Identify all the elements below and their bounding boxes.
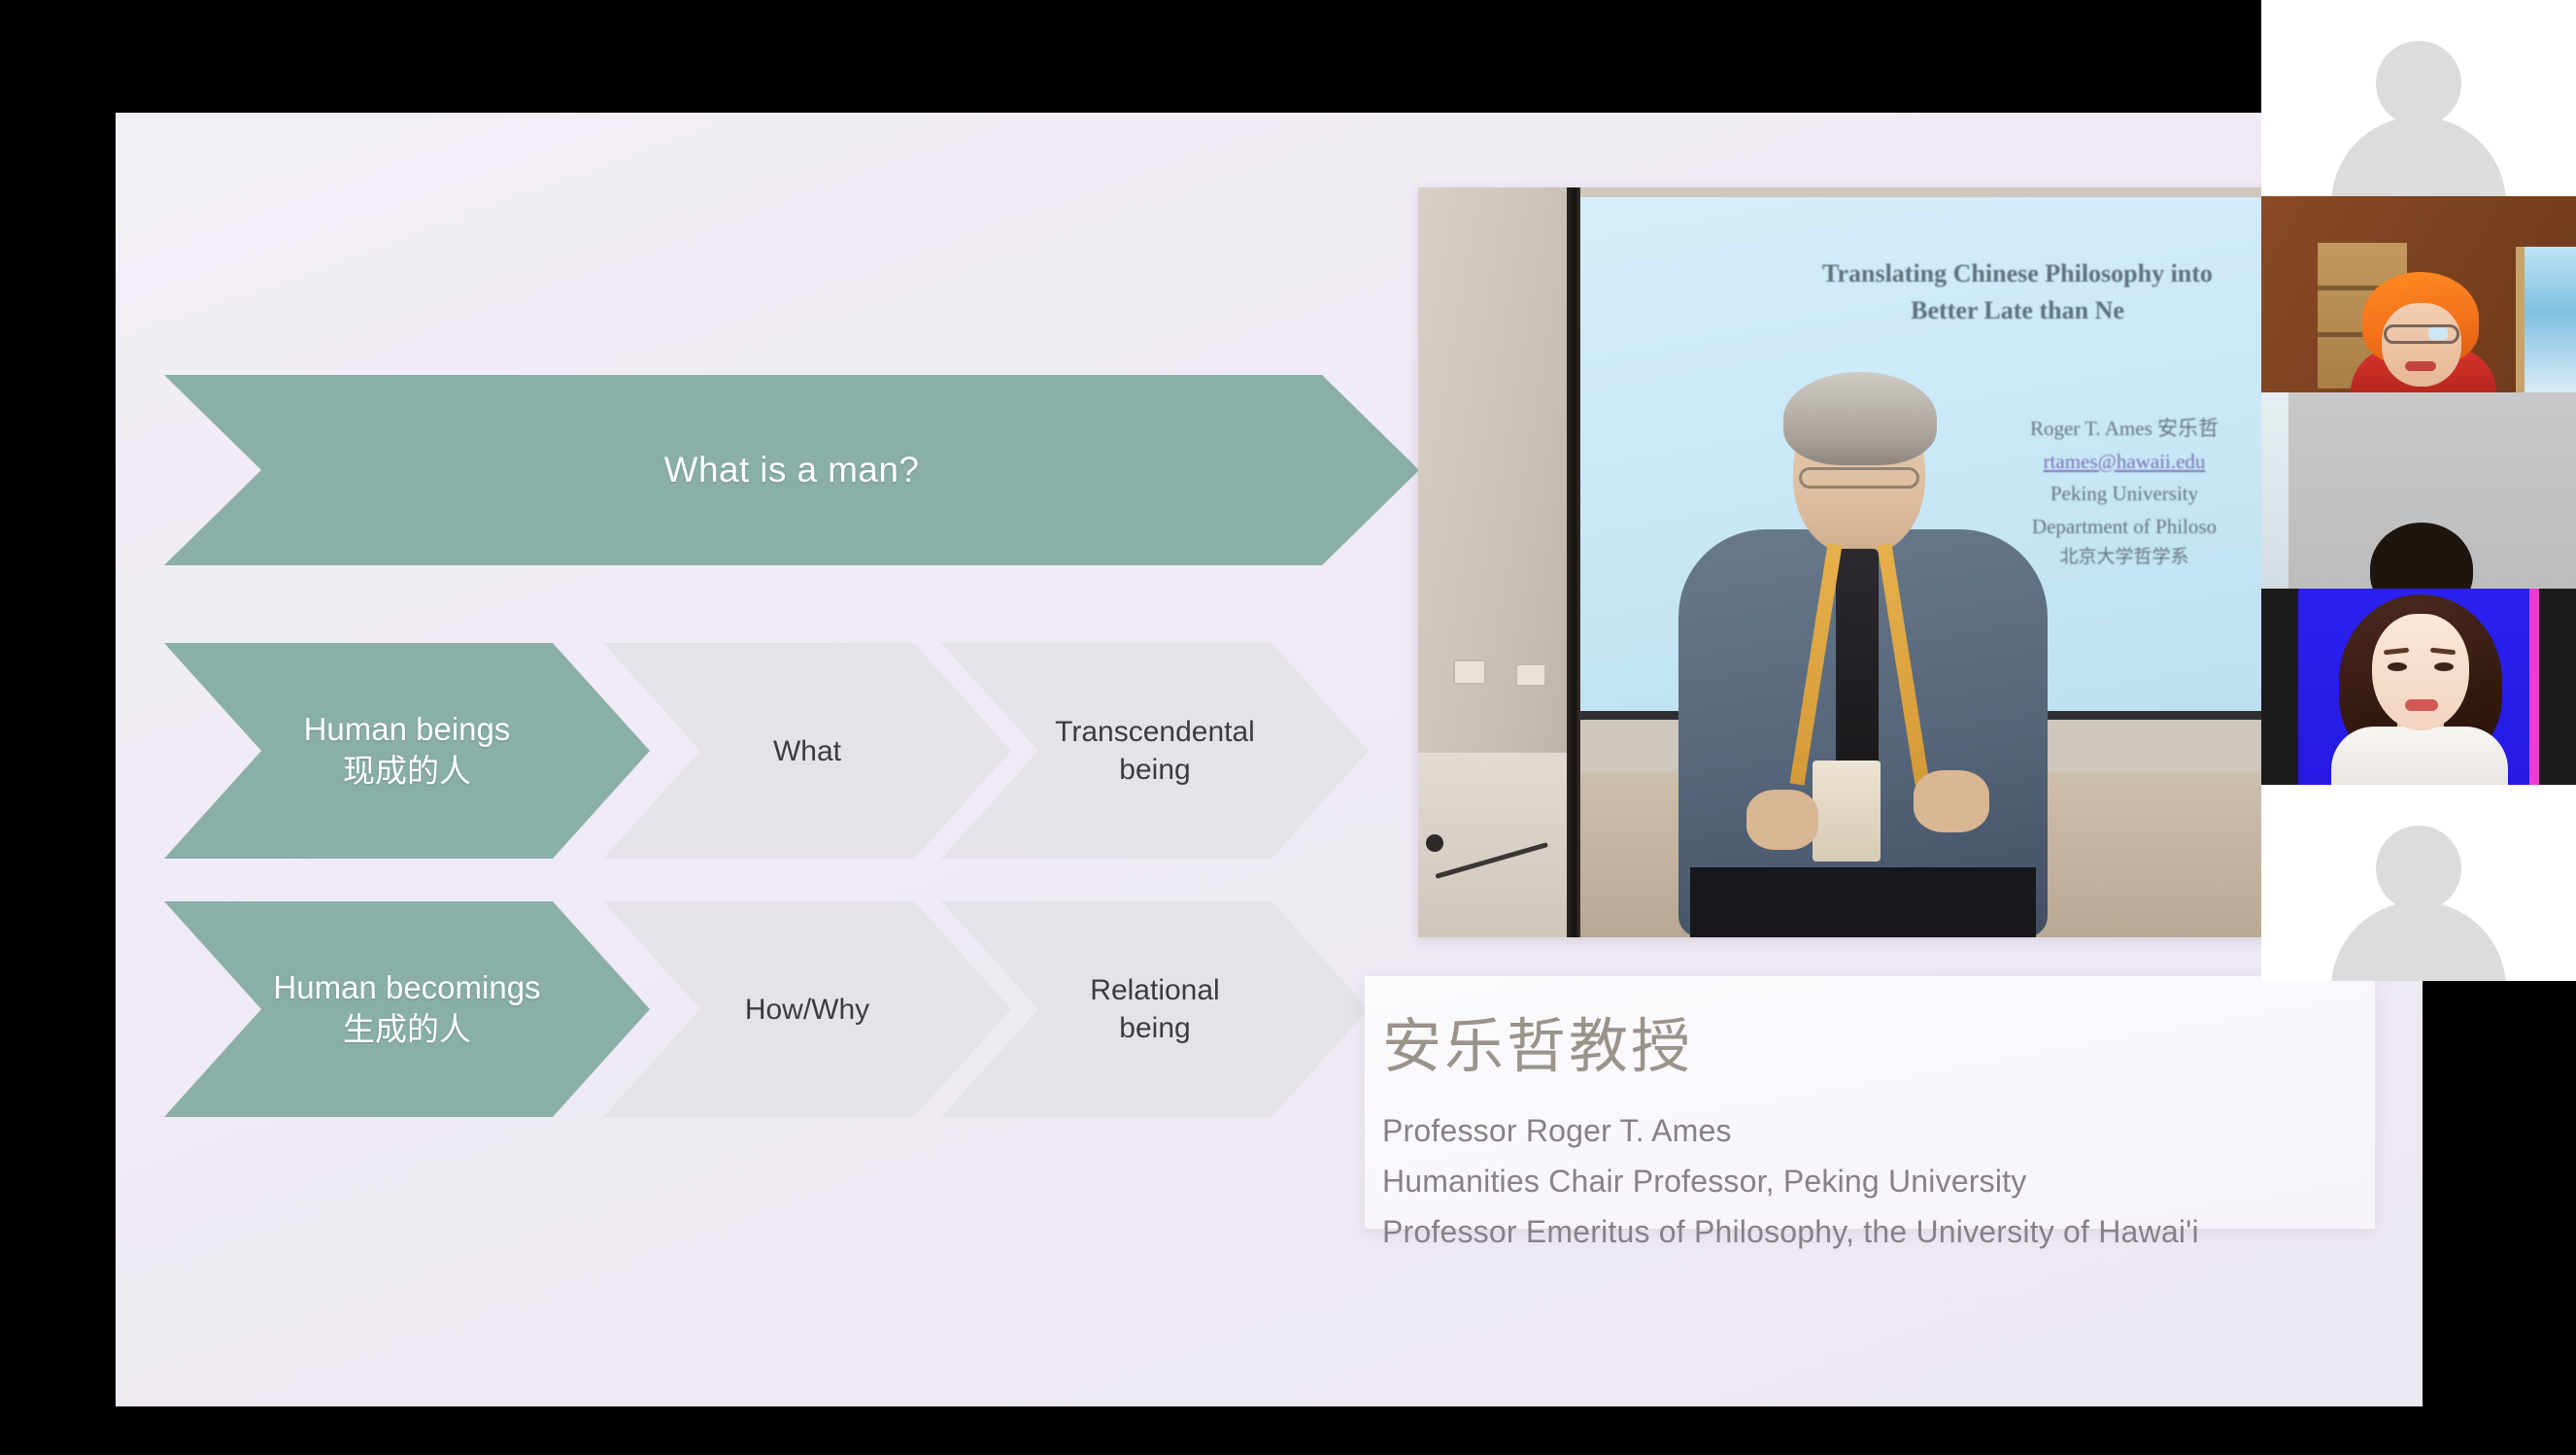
speaker-name-chinese: 安乐哲教授: [1382, 1015, 2375, 1077]
chevron-human-beings-text: Human beings 现成的人: [290, 709, 525, 793]
chevron-human-becomings: Human becomings 生成的人: [164, 901, 650, 1117]
portrait-eye-right: [2434, 662, 2454, 671]
photo-wall-edge: [1567, 187, 1580, 937]
chevron-human-beings-en: Human beings: [304, 711, 511, 747]
portrait-white-blazer: [2331, 727, 2508, 785]
speaker-title-line-1: Professor Roger T. Ames: [1382, 1106, 2375, 1157]
banner-what-is-a-man: What is a man?: [164, 375, 1419, 565]
shared-screen: What is a man? Human beings 现成的人 What Tr…: [0, 0, 2576, 1455]
projected-title-line2: Better Late than Ne: [1697, 292, 2336, 329]
default-avatar-icon: [2322, 33, 2516, 196]
speaker-hand-right: [1914, 770, 1989, 832]
letterbox-left: [0, 0, 116, 1455]
participant-hair-dark: [2370, 523, 2473, 589]
background-window: [2516, 247, 2576, 392]
background-screen-edge: [2261, 392, 2288, 589]
chevron-human-beings: Human beings 现成的人: [164, 643, 650, 859]
speaker-necktie: [1836, 549, 1879, 772]
microphone-head: [1426, 834, 1443, 852]
projected-title-line1: Translating Chinese Philosophy into: [1697, 255, 2336, 292]
avatar-body-shape: [2331, 117, 2506, 196]
chevron-human-beings-cn: 现成的人: [304, 751, 511, 793]
participant-lips: [2405, 361, 2436, 371]
speaker-title-line-3: Professor Emeritus of Philosophy, the Un…: [1382, 1207, 2375, 1258]
participant-video-orange-hair[interactable]: [2261, 196, 2576, 392]
glasses-glare: [2428, 327, 2448, 340]
speaker-caption-card: 安乐哲教授 Professor Roger T. Ames Humanities…: [1365, 976, 2375, 1229]
speaker-name-badge: [1813, 761, 1881, 862]
chevron-transcendental-line1: Transcendental: [1055, 716, 1255, 748]
chevron-human-becomings-text: Human becomings 生成的人: [259, 967, 554, 1051]
chevron-transcendental-text: Transcendental being: [1041, 713, 1269, 789]
speaker-hair: [1783, 372, 1937, 465]
portrait-face: [2372, 614, 2469, 730]
speaker-lower-body: [1690, 867, 2036, 937]
wall-switch-icon: [1515, 663, 1546, 687]
chevron-how-why: How/Why: [603, 901, 1011, 1117]
chevron-human-becomings-cn: 生成的人: [273, 1009, 540, 1051]
chevron-relational-line2: being: [1090, 1009, 1219, 1047]
participant-avatar-2[interactable]: [2261, 785, 2576, 981]
presentation-slide: What is a man? Human beings 现成的人 What Tr…: [116, 113, 2423, 1406]
participant-glasses-icon: [2384, 324, 2459, 344]
participant-portrait-blue[interactable]: [2261, 589, 2576, 785]
avatar-body-shape: [2331, 901, 2506, 981]
banner-label: What is a man?: [651, 447, 933, 493]
portrait-eye-left: [2388, 662, 2407, 671]
chevron-what: What: [603, 643, 1011, 859]
chevron-human-becomings-en: Human becomings: [273, 969, 540, 1005]
chevron-relational-line1: Relational: [1090, 974, 1219, 1006]
participant-face: [2382, 303, 2461, 387]
letterbox-top: [0, 0, 2576, 113]
portrait-pink-stripe: [2529, 589, 2539, 785]
default-avatar-icon: [2322, 818, 2516, 981]
chevron-transcendental-line2: being: [1055, 751, 1255, 789]
participant-avatar-1[interactable]: [2261, 0, 2576, 196]
wall-socket-icon: [1453, 660, 1486, 685]
speaker-lecture-photo: Translating Chinese Philosophy into Bett…: [1418, 187, 2336, 937]
speaker-glasses-icon: [1799, 467, 1919, 489]
participant-filmstrip[interactable]: [2261, 0, 2576, 981]
chevron-how-why-label: How/Why: [731, 991, 883, 1029]
chevron-what-label: What: [760, 732, 855, 770]
participant-video-gray-wall[interactable]: [2261, 392, 2576, 589]
chevron-diagram: What is a man? Human beings 现成的人 What Tr…: [164, 375, 1446, 1152]
projected-slide-title: Translating Chinese Philosophy into Bett…: [1697, 255, 2336, 328]
portrait-lips: [2405, 699, 2438, 711]
avatar-head-shape: [2376, 826, 2461, 911]
speaker-hand-left: [1746, 790, 1818, 850]
speaker-title-line-2: Humanities Chair Professor, Peking Unive…: [1382, 1157, 2375, 1207]
portrait-backdrop: [2298, 589, 2539, 785]
letterbox-bottom: [0, 1406, 2576, 1455]
chevron-relational-text: Relational being: [1076, 971, 1233, 1047]
avatar-head-shape: [2376, 41, 2461, 126]
